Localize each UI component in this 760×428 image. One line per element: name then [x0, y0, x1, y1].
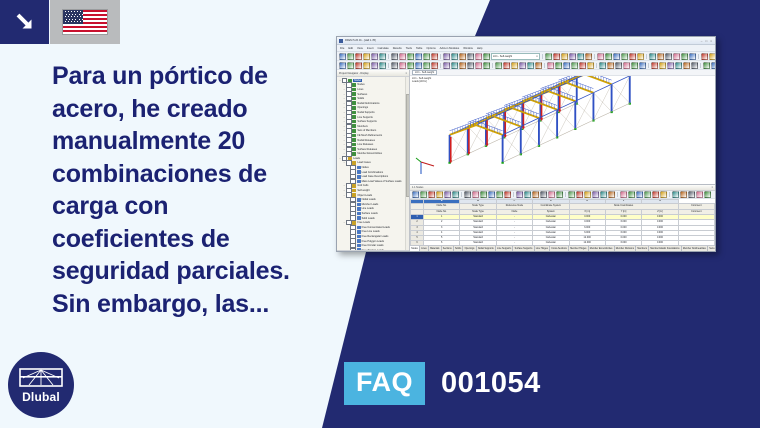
toolbar-icon-button[interactable] — [355, 62, 362, 69]
rfem-app-icon — [339, 39, 343, 43]
toolbar-icon-button[interactable] — [399, 53, 406, 60]
model-member — [521, 126, 539, 145]
toolbar-icon-button[interactable] — [371, 62, 378, 69]
toolbar-icon-button[interactable] — [548, 191, 555, 198]
toolbar-separator — [544, 63, 545, 68]
menu-item-tools[interactable]: Tools — [406, 47, 412, 50]
tree-item-label: Line Loads — [362, 207, 374, 210]
toolbar-icon-button[interactable] — [475, 62, 482, 69]
usa-flag-icon — [62, 9, 108, 35]
sheet-tab[interactable]: Member Elastic Foundations — [649, 246, 681, 252]
tree-item-icon — [352, 152, 356, 156]
toolbar-icon-button[interactable] — [683, 62, 690, 69]
sheet-tab[interactable]: Member Divisions — [615, 246, 637, 252]
toolbar-icon-button[interactable] — [472, 191, 479, 198]
tree-item-label: Member Eccentricities — [357, 152, 382, 155]
toolbar-icon-button[interactable] — [620, 191, 627, 198]
toolbar-separator — [617, 192, 618, 197]
tree-item-label: Lines — [357, 88, 363, 91]
toolbar-icon-button[interactable] — [467, 53, 474, 60]
table-sheet-tabs[interactable]: NodesLinesMaterialsSectionsSolidsOpening… — [410, 245, 715, 252]
tree-item-label: FE Mesh Refinements — [357, 134, 382, 137]
toolbar-icon-button[interactable] — [672, 191, 679, 198]
steel-portal-frame-model — [410, 76, 715, 184]
page-title: Para un pórtico deacero, he creadomanual… — [52, 60, 302, 320]
tree-item-label: Nodal Loads — [362, 198, 376, 201]
tree-item-icon — [357, 207, 361, 211]
toolbar-icon-button[interactable] — [391, 62, 398, 69]
toolbar-separator — [669, 192, 670, 197]
close-icon[interactable]: × — [406, 72, 409, 75]
slide-canvas: Para un pórtico deacero, he creadomanual… — [0, 0, 760, 428]
tree-item-icon — [352, 83, 356, 87]
main-toolbar[interactable]: LC1 - Self-weight▾ — [337, 52, 715, 61]
dlubal-logo[interactable]: Dlubal — [8, 352, 74, 418]
toolbar-icon-button[interactable] — [597, 53, 604, 60]
headline-line-7: Sin embargo, las... — [52, 288, 302, 321]
toolbar-icon-button[interactable] — [355, 53, 362, 60]
toolbar-icon-button[interactable] — [629, 53, 636, 60]
sheet-tab[interactable]: Member Eccentricities — [589, 246, 615, 252]
window-titlebar: RFEM 5.26.01 - [Hall 1.rf5] – □ × — [337, 37, 715, 45]
toolbar-icon-button[interactable] — [407, 53, 414, 60]
toolbar-icon-button[interactable] — [571, 62, 578, 69]
sheet-tab[interactable]: Line Supports — [496, 246, 514, 252]
toolbar-icon-button[interactable] — [423, 53, 430, 60]
window-title: RFEM 5.26.01 - [Hall 1.rf5] — [345, 39, 376, 42]
toolbar-icon-button[interactable] — [391, 53, 398, 60]
toolbar-separator — [565, 192, 566, 197]
menu-bar[interactable]: FileEditViewInsertCalculateResultsToolsT… — [337, 45, 715, 52]
tree-item-label: Load Case Descriptions — [362, 175, 389, 178]
navigator-tabs[interactable]: DataDisplayViews — [337, 250, 409, 252]
tree-item[interactable]: Free Tandem Loads — [338, 248, 409, 250]
toolbar-icon-button[interactable] — [587, 62, 594, 69]
toolbar-icon-button[interactable] — [621, 53, 628, 60]
tree-item-icon — [357, 175, 361, 179]
menu-item-edit[interactable]: Edit — [348, 47, 353, 50]
tree-item-label: Loads — [353, 157, 360, 160]
tree-item-icon — [357, 212, 361, 216]
tree-item-icon — [357, 216, 361, 220]
nodes-table[interactable]: ABCDEFG Node No.Node TypeReference NodeC… — [410, 199, 715, 245]
toolbar-icon-button[interactable] — [444, 191, 451, 198]
toolbar-icon-button[interactable] — [451, 53, 458, 60]
tree-item-label: Object Loads — [357, 194, 372, 197]
tree-item-icon — [352, 134, 356, 138]
secondary-toolbar[interactable] — [337, 61, 715, 70]
toolbar-icon-button[interactable] — [637, 53, 644, 60]
tree-item-label: Openings — [357, 106, 368, 109]
navigator-title: Project Navigator - Display — [339, 72, 369, 75]
toolbar-icon-button[interactable] — [371, 53, 378, 60]
tree-item-label: Free Loads — [357, 221, 370, 224]
toolbar-icon-button[interactable] — [644, 191, 651, 198]
tree-item-label: Line Supports — [357, 116, 372, 119]
toolbar-icon-button[interactable] — [639, 62, 646, 69]
model-member — [557, 110, 575, 129]
tree-item-label: Free Rectangular Loads — [362, 235, 389, 238]
toolbar-icon-button[interactable] — [431, 62, 438, 69]
toolbar-icon-button[interactable] — [451, 62, 458, 69]
tree-item-label: Model — [353, 79, 362, 82]
toolbar-icon-button[interactable] — [711, 62, 715, 69]
toolbar-icon-button[interactable] — [363, 53, 370, 60]
model-member — [450, 154, 468, 162]
model-member — [468, 126, 486, 145]
toolbar-icon-button[interactable] — [420, 191, 427, 198]
toolbar-icon-button[interactable] — [496, 191, 503, 198]
tree-item-icon — [352, 124, 356, 128]
sheet-tab[interactable]: Nodes — [410, 246, 420, 252]
menu-item-options[interactable]: Options — [426, 47, 435, 50]
table-grid[interactable]: ABCDEFG Node No.Node TypeReference NodeC… — [410, 199, 715, 245]
table-title: 1.1 Nodes — [412, 186, 423, 189]
toolbar-icon-button[interactable] — [423, 62, 430, 69]
axis-indicator-icon — [415, 154, 437, 176]
toolbar-icon-button[interactable] — [443, 53, 450, 60]
toolbar-icon-button[interactable] — [579, 62, 586, 69]
toolbar-separator — [700, 63, 701, 68]
toolbar-icon-button[interactable] — [488, 191, 495, 198]
menu-item-add-on-modules[interactable]: Add-on Modules — [440, 47, 460, 50]
headline-line-1: acero, he creado — [52, 93, 302, 126]
toolbar-icon-button[interactable] — [657, 53, 664, 60]
toolbar-icon-button[interactable] — [673, 53, 680, 60]
tree-item-label: Mass Load Values of Surface Loads — [362, 180, 402, 183]
model-member — [503, 154, 521, 162]
tree-item-label: Nodal Deformations — [357, 102, 379, 105]
toolbar-icon-button[interactable] — [443, 62, 450, 69]
load-case-combo-value: LC1 - Self-weight — [493, 55, 512, 58]
toolbar-icon-button[interactable] — [532, 191, 539, 198]
toolbar-icon-button[interactable] — [701, 53, 708, 60]
model-member — [503, 135, 521, 154]
toolbar-icon-button[interactable] — [347, 53, 354, 60]
toolbar-icon-button[interactable] — [547, 62, 554, 69]
model-member — [612, 84, 630, 103]
menu-item-table[interactable]: Table — [416, 47, 422, 50]
tree-item-label: Nodal Releases — [357, 139, 375, 142]
window-controls[interactable]: – □ × — [701, 39, 715, 43]
toolbar-icon-button[interactable] — [569, 53, 576, 60]
model-member — [557, 129, 575, 137]
tree-item-label: Grid Cells — [357, 184, 368, 187]
toolbar-icon-button[interactable] — [709, 53, 715, 60]
model-member — [521, 146, 539, 154]
dlubal-frame-icon — [19, 366, 63, 390]
toolbar-icon-button[interactable] — [555, 62, 562, 69]
tree-item-label: Solids — [357, 97, 364, 100]
toolbar-icon-button[interactable] — [339, 53, 346, 60]
toolbar-icon-button[interactable] — [659, 62, 666, 69]
load-case-selector[interactable]: LC1 - Self-weight — [412, 70, 437, 75]
tree-item-icon — [352, 129, 356, 133]
sheet-tab[interactable]: Solids — [454, 246, 464, 252]
toolbar-separator — [698, 54, 699, 59]
toolbar-icon-button[interactable] — [568, 191, 575, 198]
model-member — [612, 76, 630, 84]
toolbar-icon-button[interactable] — [415, 62, 422, 69]
tree-item-icon — [357, 230, 361, 234]
tree-item-label: Free Line Loads — [362, 230, 380, 233]
menu-item-view[interactable]: View — [357, 47, 363, 50]
logo-wordmark: Dlubal — [8, 390, 74, 404]
app-body: Project Navigator - Display × −Model−Nod… — [337, 70, 715, 252]
tree-item-label: Surfaces — [357, 93, 367, 96]
toolbar-icon-button[interactable] — [592, 191, 599, 198]
menu-item-insert[interactable]: Insert — [367, 47, 374, 50]
model-member — [450, 135, 468, 154]
toolbar-separator — [461, 192, 462, 197]
toolbar-icon-button[interactable] — [511, 62, 518, 69]
menu-item-results[interactable]: Results — [393, 47, 402, 50]
toolbar-icon-button[interactable] — [495, 62, 502, 69]
sheet-tab[interactable]: Cross-Sections — [550, 246, 569, 252]
tree-item-label: Nodal Supports — [357, 111, 374, 114]
toolbar-icon-button[interactable] — [459, 62, 466, 69]
sheet-tab[interactable]: Member Nonlinearities — [682, 246, 708, 252]
tree-item-icon — [352, 138, 356, 142]
toolbar-icon-button[interactable] — [599, 62, 606, 69]
toolbar-icon-button[interactable] — [675, 62, 682, 69]
toolbar-icon-button[interactable] — [667, 62, 674, 69]
toolbar-icon-button[interactable] — [412, 191, 419, 198]
toolbar-icon-button[interactable] — [631, 62, 638, 69]
toolbar-icon-button[interactable] — [480, 191, 487, 198]
toolbar-icon-button[interactable] — [613, 53, 620, 60]
toolbar-icon-button[interactable] — [527, 62, 534, 69]
tree-item-icon — [352, 92, 356, 96]
toolbar-separator — [388, 63, 389, 68]
toolbar-icon-button[interactable] — [475, 53, 482, 60]
model-member — [575, 93, 593, 101]
toolbar-separator — [648, 63, 649, 68]
arrow-badge[interactable] — [0, 0, 49, 44]
tree-item-icon — [352, 184, 356, 188]
toolbar-icon-button[interactable] — [600, 191, 607, 198]
toolbar-icon-button[interactable] — [636, 191, 643, 198]
toolbar-icon-button[interactable] — [545, 53, 552, 60]
toolbar-icon-button[interactable] — [584, 191, 591, 198]
load-case-combo[interactable]: LC1 - Self-weight▾ — [491, 53, 540, 60]
project-navigator[interactable]: Project Navigator - Display × −Model−Nod… — [337, 70, 410, 252]
faq-number: 001054 — [441, 362, 541, 398]
tree-item-label: Free Concentrated Loads — [362, 226, 390, 229]
headline-line-2: manualmente 20 — [52, 125, 302, 158]
tree-item-label: Sets of Members — [357, 129, 376, 132]
right-pane: LC1 - Self-weight LC1 - Self-weight Load… — [410, 70, 715, 252]
tree-item-label: Member Loads — [362, 203, 379, 206]
toolbar-icon-button[interactable] — [516, 191, 523, 198]
menu-item-file[interactable]: File — [340, 47, 344, 50]
headline-line-5: coeficientes de — [52, 223, 302, 256]
tree-item-icon — [357, 198, 361, 202]
table-body: 11Standard-Cartesian0.0000.0000.00022Sta… — [411, 215, 715, 246]
tree-item-icon — [352, 115, 356, 119]
tree-item-icon — [357, 203, 361, 207]
minimize-button[interactable]: – — [701, 39, 703, 43]
tree-item-label: Nodes — [357, 83, 364, 86]
toolbar-icon-button[interactable] — [681, 53, 688, 60]
model-member — [575, 101, 593, 120]
tree-item-icon — [357, 239, 361, 243]
rfem-application-window[interactable]: RFEM 5.26.01 - [Hall 1.rf5] – □ × FileEd… — [336, 36, 716, 252]
toolbar-separator — [513, 192, 514, 197]
toolbar-icon-button[interactable] — [431, 53, 438, 60]
toolbar-icon-button[interactable] — [680, 191, 687, 198]
toolbar-icon-button[interactable] — [561, 53, 568, 60]
toolbar-icon-button[interactable] — [483, 62, 490, 69]
toolbar-icon-button[interactable] — [608, 191, 615, 198]
toolbar-icon-button[interactable] — [339, 62, 346, 69]
model-member — [575, 120, 593, 128]
sheet-tab[interactable]: Materials — [429, 246, 442, 252]
tree-item-label: Self-weight — [357, 189, 369, 192]
tree-item-icon — [352, 88, 356, 92]
headline-line-4: carga con — [52, 190, 302, 223]
menu-item-calculate[interactable]: Calculate — [378, 47, 389, 50]
model-member — [539, 118, 557, 137]
toolbar-icon-button[interactable] — [651, 62, 658, 69]
toolbar-icon-button[interactable] — [660, 191, 667, 198]
toolbar-icon-button[interactable] — [688, 191, 695, 198]
close-button[interactable]: × — [710, 39, 712, 43]
sheet-tab[interactable]: Line Hinges — [535, 246, 551, 252]
toolbar-icon-button[interactable] — [428, 191, 435, 198]
language-flag-badge[interactable] — [50, 0, 120, 44]
toolbar-icon-button[interactable] — [553, 53, 560, 60]
tree-item-icon — [352, 147, 356, 151]
toolbar-icon-button[interactable] — [483, 53, 490, 60]
tree-item-label: Nodes — [362, 166, 369, 169]
tree-item-icon — [357, 170, 361, 174]
tree-item-label: Free Polygon Loads — [362, 240, 384, 243]
tree-item-icon — [357, 180, 361, 184]
model-member — [486, 137, 504, 145]
toolbar-icon-button[interactable] — [623, 62, 630, 69]
toolbar-icon-button[interactable] — [696, 191, 703, 198]
tree-item-label: Solid Loads — [362, 217, 375, 220]
toolbar-icon-button[interactable] — [628, 191, 635, 198]
sheet-tab[interactable]: Nodal Supports — [477, 246, 496, 252]
toolbar-icon-button[interactable] — [605, 53, 612, 60]
data-table-panel[interactable]: 1.1 Nodes × ABCDEFG Node No.Node TypeRef… — [410, 184, 715, 252]
toolbar-icon-button[interactable] — [452, 191, 459, 198]
navigator-scrollbar[interactable] — [405, 77, 409, 250]
toolbar-icon-button[interactable] — [399, 62, 406, 69]
tree-item-label: Load Combinations — [362, 171, 384, 174]
tree-item-label: Free Circular Loads — [362, 244, 384, 247]
tree-item-label: Surface Supports — [357, 120, 376, 123]
tree-item-icon — [357, 244, 361, 248]
toolbar-icon-button[interactable] — [652, 191, 659, 198]
toolbar-icon-button[interactable] — [607, 62, 614, 69]
sheet-tab[interactable]: Member Hinges — [569, 246, 589, 252]
toolbar-icon-button[interactable] — [467, 62, 474, 69]
model-viewport[interactable]: LC1 - Self-weight Loads [kN/m] — [410, 76, 715, 184]
toolbar-icon-button[interactable] — [459, 53, 466, 60]
toolbar-icon-button[interactable] — [407, 62, 414, 69]
headline-line-6: seguridad parciales. — [52, 255, 302, 288]
toolbar-icon-button[interactable] — [464, 191, 471, 198]
toolbar-separator — [596, 63, 597, 68]
toolbar-icon-button[interactable] — [691, 62, 698, 69]
tree-item-icon — [352, 120, 356, 124]
tree-item-label: Surface Releases — [357, 148, 377, 151]
faq-label-badge: FAQ — [344, 362, 425, 405]
menu-item-help[interactable]: Help — [477, 47, 483, 50]
tree-item-icon — [352, 106, 356, 110]
toolbar-separator — [440, 63, 441, 68]
toolbar-icon-button[interactable] — [379, 62, 386, 69]
sheet-tab[interactable]: Sets of Members — [708, 246, 715, 252]
table-toolbar[interactable] — [410, 191, 715, 199]
toolbar-icon-button[interactable] — [649, 53, 656, 60]
model-member — [612, 103, 630, 111]
toolbar-icon-button[interactable] — [519, 62, 526, 69]
tree-item-checkbox[interactable] — [350, 248, 355, 250]
sheet-tab[interactable]: Sections — [442, 246, 454, 252]
navigator-tree[interactable]: −Model−Nodes−Lines−Surfaces−Solids−Nodal… — [337, 77, 409, 250]
toolbar-icon-button[interactable] — [504, 191, 511, 198]
tree-item-label: Members — [357, 125, 367, 128]
toolbar-icon-button[interactable] — [415, 53, 422, 60]
toolbar-icon-button[interactable] — [585, 53, 592, 60]
model-member — [468, 146, 486, 154]
toolbar-icon-button[interactable] — [563, 62, 570, 69]
sheet-tab[interactable]: Surface Supports — [513, 246, 534, 252]
toolbar-separator — [492, 63, 493, 68]
toolbar-icon-button[interactable] — [347, 62, 354, 69]
headline-line-3: combinaciones de — [52, 158, 302, 191]
toolbar-separator — [646, 54, 647, 59]
tree-item-icon — [357, 235, 361, 239]
toolbar-icon-button[interactable] — [436, 191, 443, 198]
navigator-header: Project Navigator - Display × — [337, 70, 409, 77]
chevron-down-icon[interactable]: ▾ — [535, 55, 539, 58]
sheet-tab[interactable]: Openings — [463, 246, 476, 252]
model-support — [501, 162, 503, 164]
toolbar-icon-button[interactable] — [379, 53, 386, 60]
toolbar-icon-button[interactable] — [556, 191, 563, 198]
toolbar-icon-button[interactable] — [524, 191, 531, 198]
toolbar-separator — [594, 54, 595, 59]
sheet-tab[interactable]: Members — [636, 246, 649, 252]
toolbar-icon-button[interactable] — [503, 62, 510, 69]
toolbar-icon-button[interactable] — [577, 53, 584, 60]
headline-line-0: Para un pórtico de — [52, 60, 302, 93]
toolbar-icon-button[interactable] — [576, 191, 583, 198]
menu-item-window[interactable]: Window — [463, 47, 473, 50]
toolbar-icon-button[interactable] — [540, 191, 547, 198]
tree-item-label: Surface Loads — [362, 212, 378, 215]
toolbar-icon-button[interactable] — [703, 62, 710, 69]
toolbar-icon-button[interactable] — [363, 62, 370, 69]
tree-item-label: Load Cases — [357, 161, 370, 164]
toolbar-icon-button[interactable] — [615, 62, 622, 69]
tree-item-icon — [352, 111, 356, 115]
model-member — [593, 93, 611, 112]
toolbar-icon-button[interactable] — [704, 191, 711, 198]
toolbar-icon-button[interactable] — [535, 62, 542, 69]
toolbar-icon-button[interactable] — [689, 53, 696, 60]
toolbar-icon-button[interactable] — [665, 53, 672, 60]
sheet-tab[interactable]: Lines — [420, 246, 429, 252]
maximize-button[interactable]: □ — [705, 39, 707, 43]
close-icon[interactable]: × — [712, 186, 715, 189]
tree-item-label: Free Tandem Loads — [362, 249, 384, 250]
